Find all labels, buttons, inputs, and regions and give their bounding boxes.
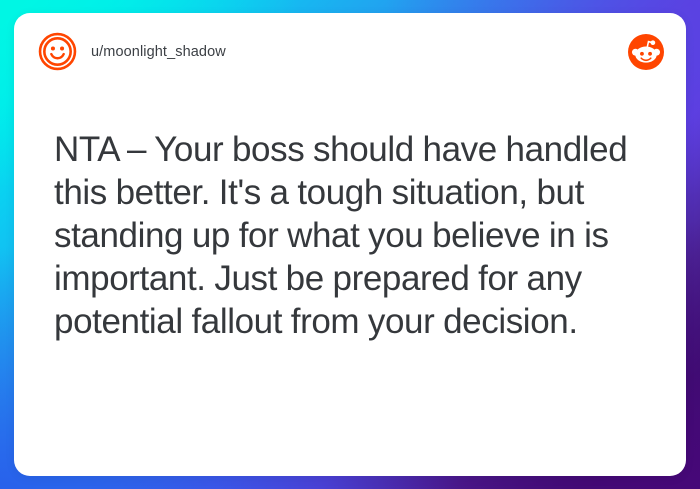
card-body: NTA – Your boss should have handled this… xyxy=(14,128,686,343)
reddit-snoo-icon[interactable] xyxy=(628,34,664,70)
username-label: u/moonlight_shadow xyxy=(91,44,226,60)
card-header: u/moonlight_shadow xyxy=(14,13,686,71)
comment-text: NTA – Your boss should have handled this… xyxy=(54,128,642,343)
smiley-face-avatar-icon xyxy=(38,32,77,71)
screenshot-root: u/moonlight_shadow xyxy=(0,0,700,489)
reddit-comment-card: u/moonlight_shadow xyxy=(14,13,686,476)
